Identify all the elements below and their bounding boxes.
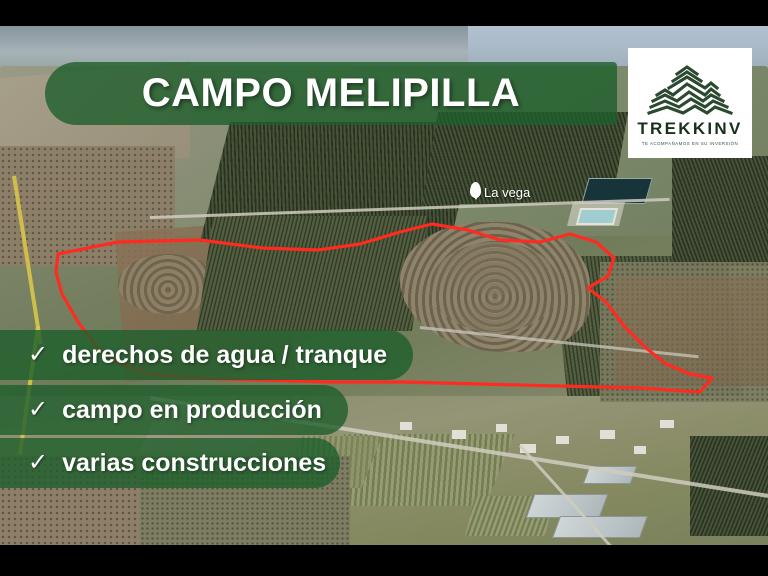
logo-tagline: TE ACOMPAÑAMOS EN SU INVERSIÓN [642, 141, 738, 146]
letterbox-bottom [0, 545, 768, 576]
listing-image: La vega CAMPO MELIPILLA TREKKINV TE ACOM… [0, 0, 768, 576]
letterbox-top [0, 0, 768, 26]
feature-item-2[interactable]: ✓ varias construcciones [0, 438, 340, 488]
map-pin-label: La vega [484, 185, 530, 200]
feature-item-0[interactable]: ✓ derechos de agua / tranque [0, 330, 413, 380]
feature-item-1[interactable]: ✓ campo en producción [0, 385, 348, 435]
check-icon: ✓ [28, 398, 48, 422]
logo-wordmark: TREKKINV [637, 119, 742, 139]
map-pin[interactable]: La vega [470, 182, 530, 200]
map-pin-icon [470, 182, 481, 198]
feature-label: derechos de agua / tranque [62, 341, 387, 370]
check-icon: ✓ [28, 451, 48, 475]
trekkinv-mountain-logo-icon [647, 61, 733, 117]
feature-label: varias construcciones [62, 449, 326, 478]
feature-label: campo en producción [62, 396, 322, 425]
brand-logo[interactable]: TREKKINV TE ACOMPAÑAMOS EN SU INVERSIÓN [628, 48, 752, 158]
title-banner: CAMPO MELIPILLA [45, 62, 617, 125]
check-icon: ✓ [28, 343, 48, 367]
page-title: CAMPO MELIPILLA [142, 71, 521, 116]
